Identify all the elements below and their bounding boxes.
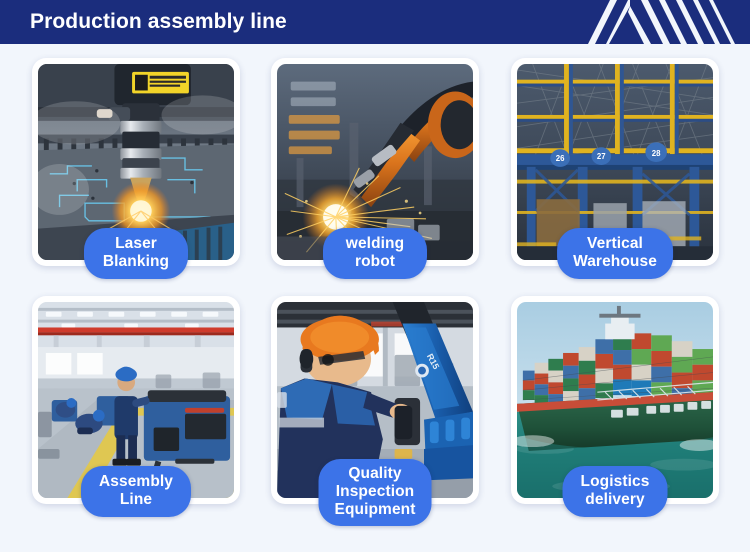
card-label-assembly-line[interactable]: Assembly Line <box>81 466 191 517</box>
svg-text:28: 28 <box>652 149 661 158</box>
card-grid: Laser Blanking <box>0 44 750 552</box>
card-label-logistics-delivery[interactable]: Logistics delivery <box>563 466 668 517</box>
slanted-stripes-logo-icon <box>570 0 750 44</box>
card-laser-blanking[interactable]: Laser Blanking <box>32 58 240 266</box>
svg-text:27: 27 <box>597 152 606 161</box>
card-label-laser-blanking[interactable]: Laser Blanking <box>84 228 188 279</box>
svg-text:26: 26 <box>556 154 565 163</box>
page-title: Production assembly line <box>30 10 287 34</box>
card-label-vertical-warehouse[interactable]: Vertical Warehouse <box>557 228 673 279</box>
card-label-welding-robot[interactable]: welding robot <box>323 228 427 279</box>
card-welding-robot[interactable]: welding robot <box>271 58 479 266</box>
card-vertical-warehouse[interactable]: 26 27 28 <box>511 58 719 266</box>
card-logistics-delivery[interactable]: Logistics delivery <box>511 296 719 504</box>
card-label-quality-inspection-equipment[interactable]: Quality Inspection Equipment <box>319 459 432 526</box>
card-assembly-line[interactable]: Assembly Line <box>32 296 240 504</box>
card-quality-inspection-equipment[interactable]: R15 <box>271 296 479 504</box>
page-header: Production assembly line <box>0 0 750 44</box>
